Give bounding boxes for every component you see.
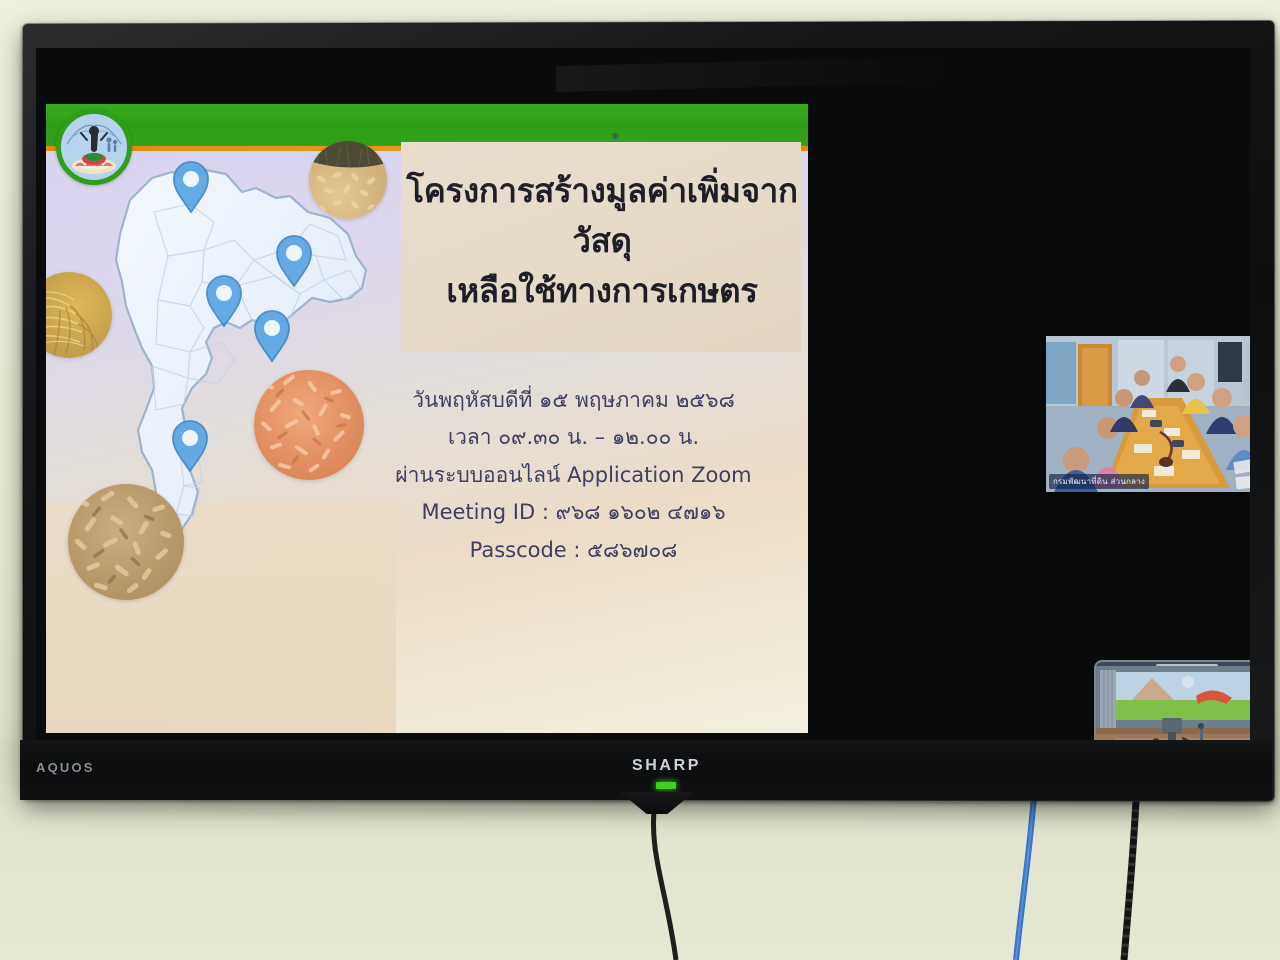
sharp-brand-label: SHARP: [632, 757, 701, 775]
participant-tile-main-label: กรมพัฒนาที่ดิน ส่วนกลาง: [1049, 474, 1149, 489]
participant-tile-secondary[interactable]: สพข.ที่จัดฯ: [1094, 660, 1250, 742]
ethernet-cable-hl: [1016, 795, 1034, 960]
detail-date: วันพฤหัสบดีที่ ๑๕ พฤษภาคม ๒๕๖๘: [346, 382, 801, 419]
rice-grain-circle: [309, 141, 387, 219]
participant-tile-main[interactable]: กรมพัฒนาที่ดิน ส่วนกลาง: [1046, 336, 1250, 492]
power-led-indicator: [656, 782, 676, 789]
detail-time: เวลา ๐๙.๓๐ น. – ๑๒.๐๐ น.: [346, 419, 801, 456]
power-cable: [653, 800, 676, 960]
slide-page-number: ๑: [611, 124, 619, 145]
detail-meeting-id: Meeting ID : ๙๖๘ ๑๖๐๒ ๔๗๑๖: [346, 494, 801, 531]
presentation-slide: ๑ โครงการสร้างมูลค่าเพิ่มจากวัสดุ เหลือใ…: [46, 104, 808, 733]
meeting-details: วันพฤหัสบดีที่ ๑๕ พฤษภาคม ๒๕๖๘ เวลา ๐๙.๓…: [346, 382, 801, 569]
wood-chip-tan-circle: [68, 484, 184, 600]
pin-east: [255, 311, 289, 361]
tv-bottom-bezel: AQUOS SHARP: [20, 740, 1272, 800]
slide-title-line-1: โครงการสร้างมูลค่าเพิ่มจากวัสดุ: [396, 166, 808, 266]
television: ๑ โครงการสร้างมูลค่าเพิ่มจากวัสดุ เหลือใ…: [20, 22, 1272, 800]
detail-platform: ผ่านระบบออนไลน์ Application Zoom: [346, 457, 801, 494]
slide-title-line-2: เหลือใช้ทางการเกษตร: [396, 266, 808, 316]
screen-glare-top: [556, 50, 1216, 92]
aquos-brand-label: AQUOS: [36, 760, 95, 775]
detail-passcode: Passcode : ๕๘๖๗๐๘: [346, 532, 801, 569]
tv-screen: ๑ โครงการสร้างมูลค่าเพิ่มจากวัสดุ เหลือใ…: [36, 48, 1250, 742]
rice-straw-circle: [46, 272, 112, 358]
slide-header-bar: [46, 104, 808, 146]
slide-title: โครงการสร้างมูลค่าเพิ่มจากวัสดุ เหลือใช้…: [396, 166, 808, 316]
